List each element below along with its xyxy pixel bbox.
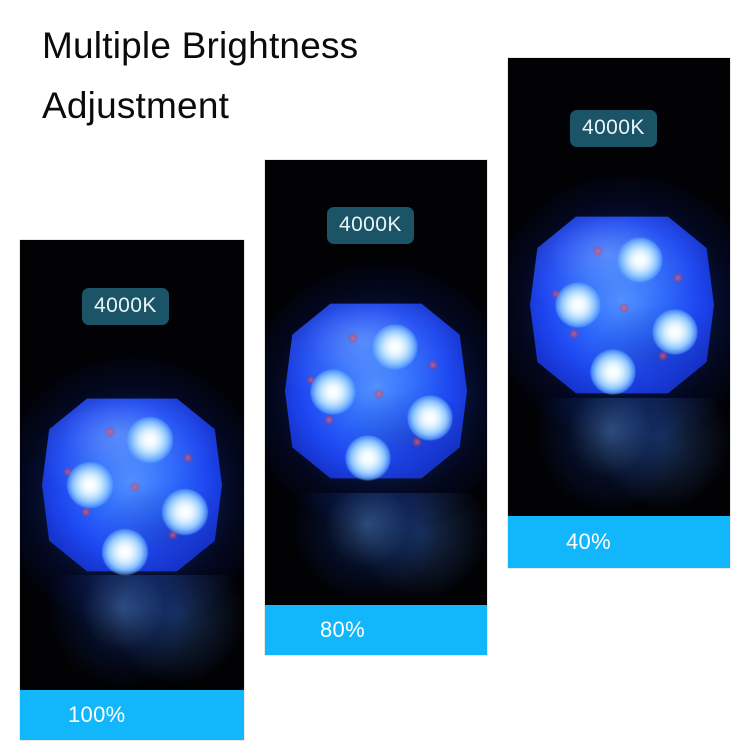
led-emitter xyxy=(67,462,113,508)
indicator-dot-icon xyxy=(131,483,140,492)
indicator-dot-icon xyxy=(325,416,334,425)
led-emitter xyxy=(162,489,208,535)
led-emitter xyxy=(102,529,148,575)
indicator-dot-icon xyxy=(82,508,91,517)
indicator-dot-icon xyxy=(429,361,438,370)
indicator-dot-icon xyxy=(413,438,422,447)
page-title: Multiple Brightness Adjustment xyxy=(42,16,502,136)
color-temperature-badge: 4000K xyxy=(570,110,657,147)
led-emitter xyxy=(408,396,453,441)
brightness-footer-bar: 100% xyxy=(20,690,244,740)
color-temperature-badge: 4000K xyxy=(82,288,169,325)
brightness-panel-80: 4000K 80% xyxy=(265,160,487,655)
led-emitter xyxy=(373,325,418,370)
indicator-dot-icon xyxy=(349,334,358,343)
reflection-glow xyxy=(20,575,244,690)
indicator-dot-icon xyxy=(620,304,629,313)
led-emitter xyxy=(346,436,391,481)
reflective-surface xyxy=(20,575,244,690)
brightness-footer-bar: 40% xyxy=(508,516,730,568)
brightness-label: 40% xyxy=(566,529,611,555)
indicator-dot-icon xyxy=(106,428,115,437)
color-temperature-label: 4000K xyxy=(94,295,157,316)
reflection-glow xyxy=(508,398,730,516)
color-temperature-label: 4000K xyxy=(339,214,402,235)
indicator-dot-icon xyxy=(375,390,384,399)
led-emitter xyxy=(653,310,698,355)
reflective-surface xyxy=(508,398,730,516)
reflection-glow xyxy=(265,493,487,605)
brightness-label: 80% xyxy=(320,617,365,643)
indicator-dot-icon xyxy=(674,274,683,283)
led-emitter xyxy=(618,238,663,283)
led-emitter xyxy=(127,417,173,463)
color-temperature-badge: 4000K xyxy=(327,207,414,244)
led-emitter xyxy=(311,370,356,415)
indicator-dot-icon xyxy=(594,247,603,256)
color-temperature-label: 4000K xyxy=(582,117,645,138)
led-emitter xyxy=(556,283,601,328)
indicator-dot-icon xyxy=(184,454,193,463)
brightness-panel-100: 4000K 100% xyxy=(20,240,244,740)
brightness-panel-40: 4000K 40% xyxy=(508,58,730,568)
led-emitter xyxy=(591,350,636,395)
reflective-surface xyxy=(265,493,487,605)
indicator-dot-icon xyxy=(570,330,579,339)
brightness-footer-bar: 80% xyxy=(265,605,487,655)
brightness-label: 100% xyxy=(68,702,125,728)
product-feature-graphic: Multiple Brightness Adjustment xyxy=(0,0,750,750)
